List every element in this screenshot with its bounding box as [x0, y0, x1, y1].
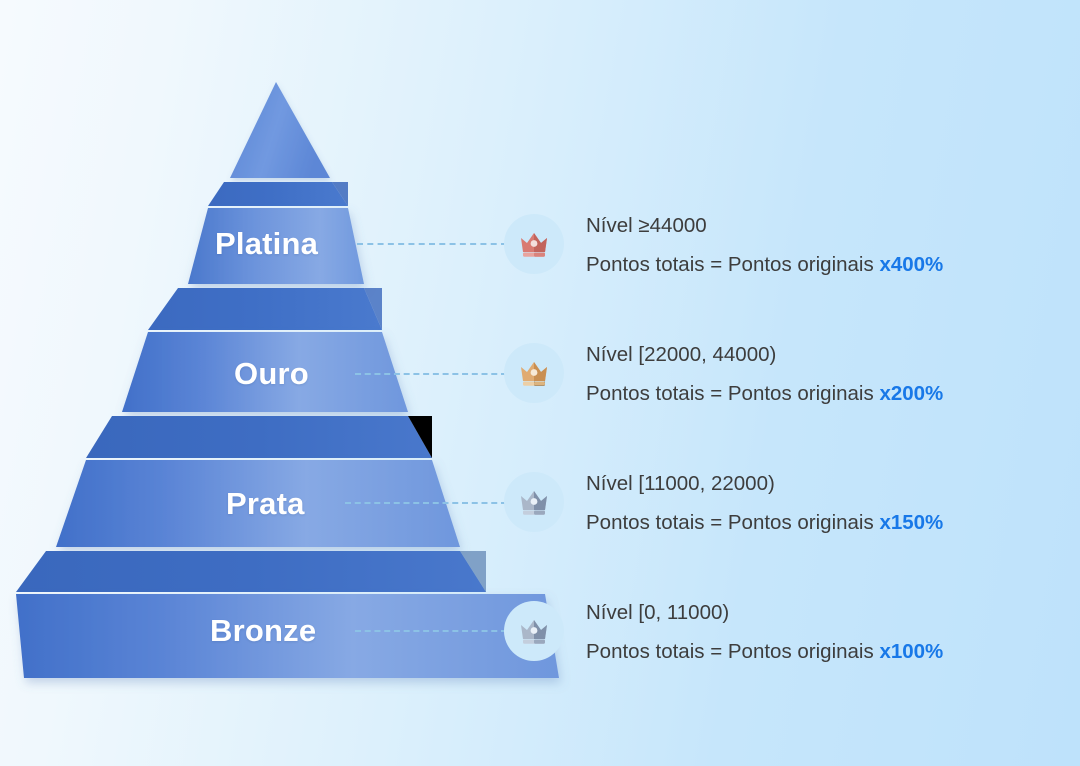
- tier-formula-bronze: Pontos totais = Pontos originais x100%: [586, 637, 943, 667]
- tier-info-bronze: Nível [0, 11000) Pontos totais = Pontos …: [586, 598, 943, 667]
- tier-formula-prata: Pontos totais = Pontos originais x150%: [586, 508, 943, 538]
- crown-icon: [517, 358, 551, 388]
- tier-info-ouro: Nível [22000, 44000) Pontos totais = Pon…: [586, 340, 943, 409]
- tier-label-prata: Prata: [226, 486, 305, 522]
- crown-icon: [517, 487, 551, 517]
- badge-prata[interactable]: [504, 472, 564, 532]
- tier-level-ouro: Nível [22000, 44000): [586, 340, 943, 370]
- tier-label-platina: Platina: [215, 226, 318, 262]
- tier-info-prata: Nível [11000, 22000) Pontos totais = Pon…: [586, 469, 943, 538]
- connector-ouro: [355, 373, 507, 375]
- tier-formula-ouro: Pontos totais = Pontos originais x200%: [586, 379, 943, 409]
- tier-label-bronze: Bronze: [210, 613, 316, 649]
- tier-multiplier-bronze: x100%: [879, 640, 943, 663]
- tier-multiplier-ouro: x200%: [879, 382, 943, 405]
- badge-bronze[interactable]: [504, 601, 564, 661]
- tier-formula-platina: Pontos totais = Pontos originais x400%: [586, 250, 943, 280]
- pyramid-fold-4: [16, 551, 486, 592]
- tier-multiplier-platina: x400%: [879, 253, 943, 276]
- connector-platina: [357, 243, 507, 245]
- pyramid-fold-1: [208, 182, 348, 206]
- tier-level-prata: Nível [11000, 22000): [586, 469, 943, 499]
- pyramid-fold-2: [148, 288, 382, 330]
- connector-prata: [345, 502, 507, 504]
- formula-prefix: Pontos totais = Pontos originais: [586, 253, 879, 276]
- formula-prefix: Pontos totais = Pontos originais: [586, 382, 879, 405]
- pyramid-apex: [230, 82, 330, 178]
- infographic-canvas: Platina Ouro Prata Bronze: [0, 0, 1080, 766]
- formula-prefix: Pontos totais = Pontos originais: [586, 640, 879, 663]
- pyramid-fold-3: [86, 416, 432, 458]
- tier-level-bronze: Nível [0, 11000): [586, 598, 943, 628]
- tier-multiplier-prata: x150%: [879, 511, 943, 534]
- tier-level-platina: Nível ≥44000: [586, 211, 943, 241]
- connector-bronze: [355, 630, 507, 632]
- badge-ouro[interactable]: [504, 343, 564, 403]
- formula-prefix: Pontos totais = Pontos originais: [586, 511, 879, 534]
- tier-label-ouro: Ouro: [234, 356, 309, 392]
- crown-icon: [517, 616, 551, 646]
- crown-icon: [517, 229, 551, 259]
- badge-platina[interactable]: [504, 214, 564, 274]
- tier-info-platina: Nível ≥44000 Pontos totais = Pontos orig…: [586, 211, 943, 280]
